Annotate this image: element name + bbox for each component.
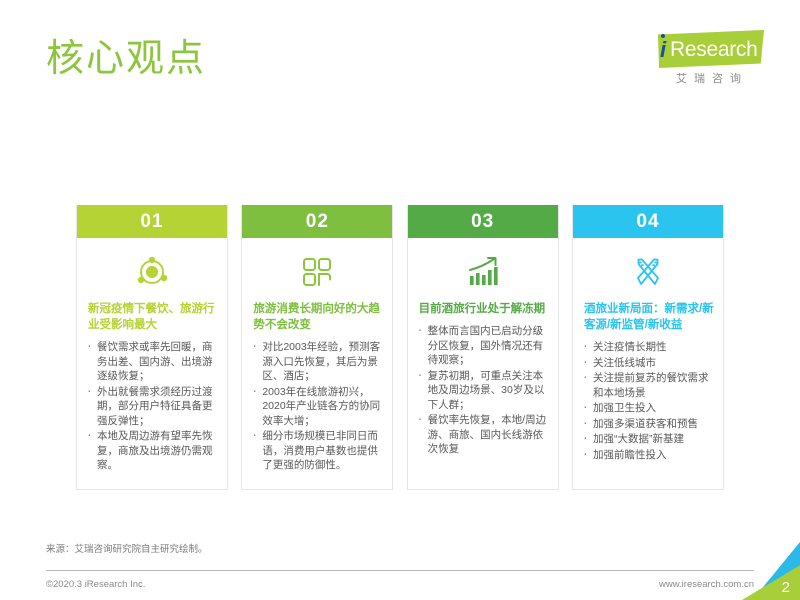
list-item: 餐饮需求或率先回暖，商务出差、国内游、出境游逐级恢复； [86,340,218,384]
card-body-03: 目前酒旅行业处于解冻期 整体而言国内已启动分级分区恢复，国外情况还有待观察； 复… [408,238,558,489]
website-url: www.iresearch.com.cn [659,578,754,591]
footer-divider [46,570,754,571]
logo-wordmark: Research [670,37,757,63]
card-title-01: 新冠疫情下餐饮、旅游行业受影响最大 [88,301,218,333]
card-number-badge-04: 04 [573,205,723,238]
list-item: 整体而言国内已启动分级分区恢复，国外情况还有待观察； [417,324,549,368]
list-item: 餐饮率先恢复，本地/周边游、商旅、国内长线游依次恢复 [417,413,549,457]
logo-letter-i: i [660,39,666,61]
card-number-badge-03: 03 [408,205,558,238]
key-point-card-02[interactable]: 02 旅游消费长期向好的大趋势不会改变 对比2003年经验，预测客源入口先恢复，… [241,205,393,490]
pencil-ruler-icon [582,250,714,294]
card-title-03: 目前酒旅行业处于解冻期 [419,301,549,317]
list-item: 加强“大数据”新基建 [582,432,714,447]
list-item: 加强卫生投入 [582,401,714,416]
list-item: 复苏初期，可重点关注本地及周边场景、30岁及以下人群； [417,369,549,413]
card-title-02: 旅游消费长期向好的大趋势不会改变 [253,301,383,333]
list-item: 外出就餐需求须经历过渡期，部分用户特征具备更强反弹性； [86,385,218,429]
card-number-badge-01: 01 [77,205,227,238]
list-item: 加强多渠道获客和预售 [582,417,714,432]
list-item: 对比2003年经验，预测客源入口先恢复，其后为景区、酒店； [251,340,383,384]
key-point-card-04[interactable]: 04 酒旅业新局面：新需求/新客源/新监管/新收益 关注疫情长期性 [572,205,724,490]
logo-chinese-name: 艾瑞咨询 [660,72,764,86]
key-point-card-03[interactable]: 03 目前酒旅行业处于解冻期 整体而言国内已启动分级分区恢复，国外情况还有待观察… [407,205,559,490]
slide-header: 核心观点 i Research 艾瑞咨询 [0,0,800,120]
list-item: 关注疫情长期性 [582,340,714,355]
page-number: 2 [782,579,790,596]
card-bullets-02: 对比2003年经验，预测客源入口先恢复，其后为景区、酒店； 2003年在线旅游初… [251,340,383,473]
grid-squares-icon [251,250,383,294]
card-bullets-03: 整体而言国内已启动分级分区恢复，国外情况还有待观察； 复苏初期，可重点关注本地及… [417,324,549,457]
card-title-04: 酒旅业新局面：新需求/新客源/新监管/新收益 [584,301,714,333]
list-item: 关注提前复苏的餐饮需求和本地场景 [582,371,714,400]
list-item: 加强前瞻性投入 [582,448,714,463]
list-item: 关注低线城市 [582,356,714,371]
key-point-card-01[interactable]: 01 新冠疫情下餐饮、旅游行业受影响最大 餐饮需求或率先回暖，商务出差、国内游、… [76,205,228,490]
card-body-01: 新冠疫情下餐饮、旅游行业受影响最大 餐饮需求或率先回暖，商务出差、国内游、出境游… [77,238,227,489]
list-item: 细分市场规模已非同日而语，消费用户基数也提供了更强的防御性。 [251,429,383,473]
card-body-04: 酒旅业新局面：新需求/新客源/新监管/新收益 关注疫情长期性 关注低线城市 关注… [573,238,723,489]
source-note: 来源：艾瑞咨询研究院自主研究绘制。 [46,543,208,556]
card-body-02: 旅游消费长期向好的大趋势不会改变 对比2003年经验，预测客源入口先恢复，其后为… [242,238,392,489]
atom-orbit-icon [86,250,218,294]
card-number-badge-02: 02 [242,205,392,238]
list-item: 本地及周边游有望率先恢复，商旅及出境游仍需观察。 [86,429,218,473]
iresearch-logo: i Research 艾瑞咨询 [644,30,764,92]
copyright-text: ©2020.3 iResearch Inc. [46,578,145,591]
card-bullets-04: 关注疫情长期性 关注低线城市 关注提前复苏的餐饮需求和本地场景 加强卫生投入 加… [582,340,714,462]
list-item: 2003年在线旅游初兴，2020年产业链各方的协同效率大增； [251,385,383,429]
card-bullets-01: 餐饮需求或率先回暖，商务出差、国内游、出境游逐级恢复； 外出就餐需求须经历过渡期… [86,340,218,473]
bar-chart-growth-icon [417,250,549,294]
corner-decoration-green [742,542,800,600]
key-points-card-row: 01 新冠疫情下餐饮、旅游行业受影响最大 餐饮需求或率先回暖，商务出差、国内游、… [76,205,724,490]
page-title: 核心观点 [46,36,206,82]
